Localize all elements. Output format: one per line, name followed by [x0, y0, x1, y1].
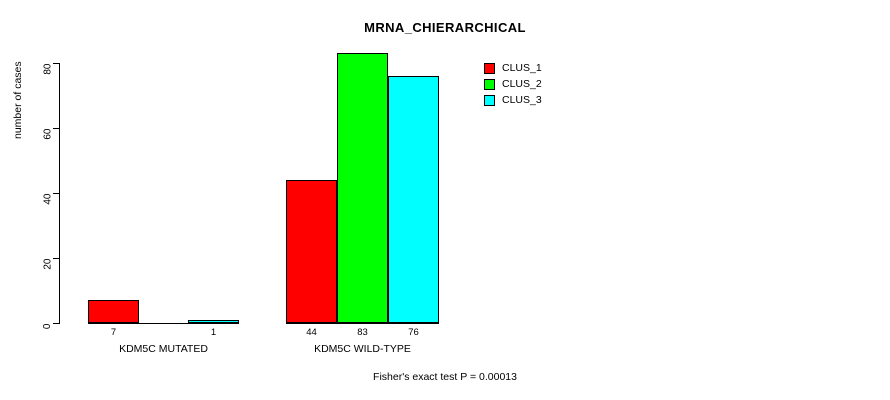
legend-item-clus_3[interactable]: CLUS_3 — [484, 92, 542, 108]
page-title: MRNA_CHIERARCHICAL — [0, 20, 890, 35]
bar-kdm5c-wild-type-clus_2[interactable] — [337, 53, 388, 323]
group-label: KDM5C WILD-TYPE — [286, 343, 439, 355]
legend-color-swatch — [484, 63, 495, 74]
legend-item-clus_1[interactable]: CLUS_1 — [484, 60, 542, 76]
statistical-test-note: Fisher's exact test P = 0.00013 — [0, 371, 890, 383]
legend: CLUS_1CLUS_2CLUS_3 — [484, 60, 542, 108]
bar-value-label: 1 — [188, 327, 239, 338]
y-axis-tick — [53, 193, 60, 194]
chart-canvas: MRNA_CHIERARCHICAL number of cases 02040… — [0, 0, 890, 400]
bar-kdm5c-mutated-clus_1[interactable] — [88, 300, 139, 323]
legend-color-swatch — [484, 95, 495, 106]
legend-item-label: CLUS_2 — [502, 78, 542, 90]
y-axis-tick-label: 20 — [43, 259, 54, 270]
y-axis-tick-label-wrap: 40 — [0, 188, 48, 198]
y-axis-tick — [53, 258, 60, 259]
legend-color-swatch — [484, 79, 495, 90]
bar-value-label: 83 — [337, 327, 388, 338]
bar-value-label: 76 — [388, 327, 439, 338]
y-axis-tick-label-wrap: 80 — [0, 58, 48, 68]
bar-value-label: 44 — [286, 327, 337, 338]
y-axis-tick-label: 40 — [43, 194, 54, 205]
y-axis-tick-label-wrap: 60 — [0, 123, 48, 133]
group-label: KDM5C MUTATED — [88, 343, 239, 355]
y-axis-tick — [53, 323, 60, 324]
y-axis-tick-label: 80 — [43, 64, 54, 75]
y-axis-tick — [53, 128, 60, 129]
y-axis-tick-label-wrap: 0 — [0, 318, 48, 328]
bar-kdm5c-wild-type-clus_3[interactable] — [388, 76, 439, 323]
y-axis-tick-label: 60 — [43, 129, 54, 140]
legend-item-label: CLUS_1 — [502, 62, 542, 74]
statistical-test-text: Fisher's exact test P = 0.00013 — [373, 371, 517, 383]
group-baseline — [286, 323, 439, 324]
legend-item-clus_2[interactable]: CLUS_2 — [484, 76, 542, 92]
bar-kdm5c-wild-type-clus_1[interactable] — [286, 180, 337, 323]
bar-value-label: 7 — [88, 327, 139, 338]
group-baseline — [88, 323, 239, 324]
y-axis-tick-label: 0 — [43, 324, 54, 330]
legend-item-label: CLUS_3 — [502, 94, 542, 106]
y-axis-tick — [53, 63, 60, 64]
plot-area — [60, 63, 460, 323]
y-axis-title-anchor: number of cases — [12, 139, 13, 140]
y-axis-tick-label-wrap: 20 — [0, 253, 48, 263]
